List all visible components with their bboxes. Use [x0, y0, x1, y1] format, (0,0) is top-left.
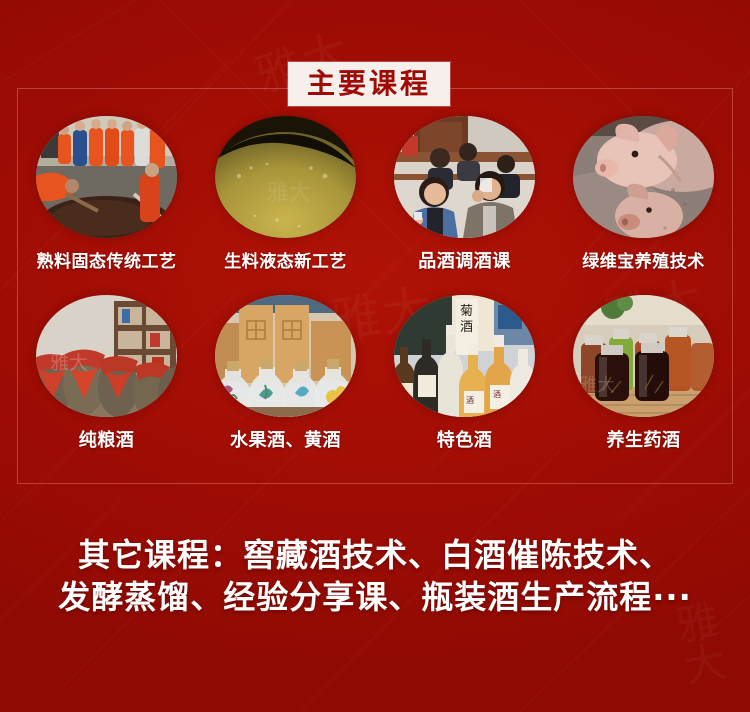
course-card[interactable]: 菊 酒: [381, 295, 549, 452]
course-overview-page: 雅大 雅大 雅大 雅大 雅大 主要课程: [0, 0, 750, 712]
other-courses-line-2: 发酵蒸馏、经验分享课、瓶装酒生产流程···: [0, 576, 750, 618]
other-courses-line-1: 其它课程：窖藏酒技术、白酒催陈技术、: [0, 534, 750, 576]
course-card[interactable]: 熟料固态传统工艺: [23, 116, 191, 272]
course-label: 纯粮酒: [79, 426, 135, 452]
photo-raw-material-liquid-new-craft: 雅大: [215, 116, 356, 238]
svg-text:菊: 菊: [460, 304, 473, 319]
photo-lvweibao-breeding-technology: [573, 116, 714, 238]
svg-text:雅大: 雅大: [579, 375, 615, 396]
page-title-plaque: 主要课程: [288, 62, 450, 106]
svg-text:雅大: 雅大: [50, 352, 88, 374]
page-title: 主要课程: [307, 70, 431, 98]
course-label: 生料液态新工艺: [224, 247, 347, 272]
course-grid: 熟料固态传统工艺: [17, 116, 733, 452]
course-card[interactable]: 水果酒、黄酒: [202, 295, 370, 452]
course-label: 水果酒、黄酒: [230, 426, 341, 452]
photo-specialty-liquor: 菊 酒: [394, 295, 535, 417]
svg-text:酒: 酒: [466, 396, 474, 405]
svg-text:酒: 酒: [493, 390, 501, 399]
photo-tasting-and-blending-class: [394, 116, 535, 238]
course-card[interactable]: 绿维宝养殖技术: [560, 116, 728, 272]
course-card[interactable]: 雅大 生料液态新工艺: [202, 116, 370, 272]
svg-text:雅大: 雅大: [267, 181, 311, 206]
course-card[interactable]: 雅大 纯粮酒: [23, 295, 191, 452]
svg-text:酒: 酒: [460, 320, 473, 335]
course-row-1: 熟料固态传统工艺: [17, 116, 733, 273]
course-label: 养生药酒: [607, 426, 681, 452]
course-label: 特色酒: [437, 426, 493, 452]
photo-fruit-wine-and-yellow-wine: [215, 295, 356, 417]
course-row-2: 雅大 纯粮酒: [17, 295, 733, 452]
photo-health-medicinal-liquor: 雅大: [573, 295, 714, 417]
course-label: 熟料固态传统工艺: [37, 247, 177, 272]
course-label: 品酒调酒课: [418, 247, 511, 273]
photo-cooked-grain-solid-state-traditional-craft: [36, 116, 177, 238]
course-card[interactable]: 雅大 养生药酒: [560, 295, 728, 452]
photo-pure-grain-liquor: 雅大: [36, 295, 177, 417]
other-courses-block: 其它课程：窖藏酒技术、白酒催陈技术、 发酵蒸馏、经验分享课、瓶装酒生产流程···: [0, 534, 750, 618]
course-card[interactable]: 品酒调酒课: [381, 116, 549, 273]
course-label: 绿维宝养殖技术: [582, 247, 705, 272]
